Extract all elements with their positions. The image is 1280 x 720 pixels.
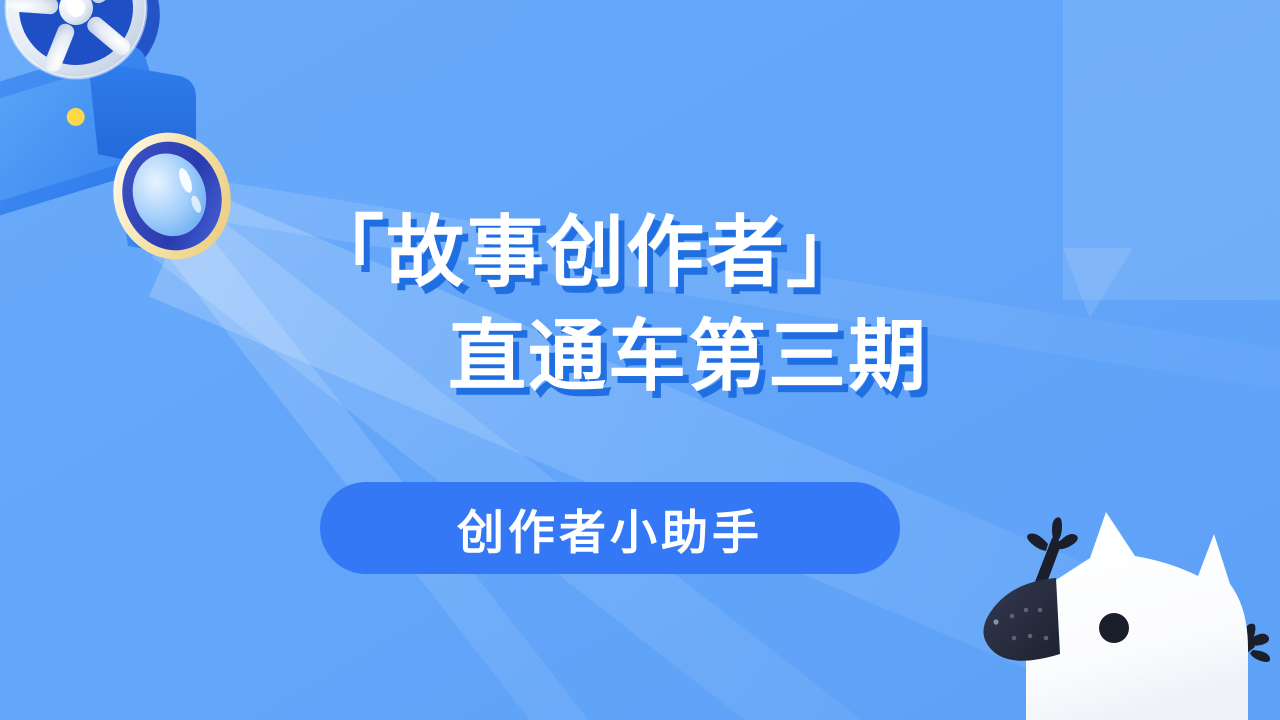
movie-projector-icon [0, 0, 300, 294]
headline-block: 「故事创作者」 直通车第三期 [300, 200, 980, 408]
speech-bubble-icon [1063, 0, 1280, 300]
speech-bubble-tail-icon [1063, 248, 1133, 318]
creator-assistant-button[interactable]: 创作者小助手 [320, 482, 900, 574]
headline-line-2: 直通车第三期 [300, 304, 980, 408]
headline-line-1: 「故事创作者」 [300, 200, 980, 304]
mascot-snout-icon [983, 578, 1060, 661]
mascot-eye-icon [1099, 613, 1129, 643]
dog-mascot-icon [930, 498, 1280, 720]
promo-banner: 「故事创作者」 直通车第三期 创作者小助手 [0, 0, 1280, 720]
